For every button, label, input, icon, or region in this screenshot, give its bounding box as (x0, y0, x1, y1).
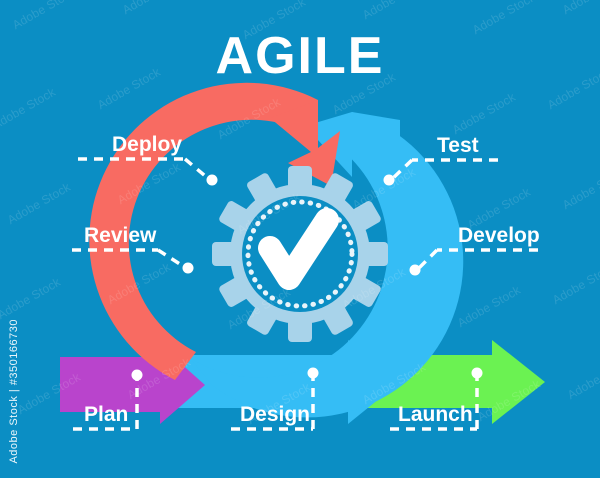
stage-label-design[interactable]: Design (240, 403, 310, 427)
callout-label-deploy[interactable]: Deploy (112, 133, 182, 157)
callout-dot-develop (410, 265, 421, 276)
stage-label-plan[interactable]: Plan (84, 403, 128, 427)
agile-infographic: AGILE Deploy Review Test Develop Plan De… (0, 0, 600, 478)
callout-label-review[interactable]: Review (84, 224, 156, 248)
callout-dot-plan (132, 370, 143, 381)
callout-dot-review (183, 263, 194, 274)
stock-credit: Adobe Stock | #350166730 (8, 319, 20, 464)
callout-dot-deploy (207, 175, 218, 186)
callout-label-develop[interactable]: Develop (458, 224, 540, 248)
callout-dot-launch (472, 368, 483, 379)
callout-label-test[interactable]: Test (437, 134, 479, 158)
callout-dot-design (308, 368, 319, 379)
callout-dot-test (384, 175, 395, 186)
page-title: AGILE (0, 26, 600, 86)
stage-label-launch[interactable]: Launch (398, 403, 473, 427)
